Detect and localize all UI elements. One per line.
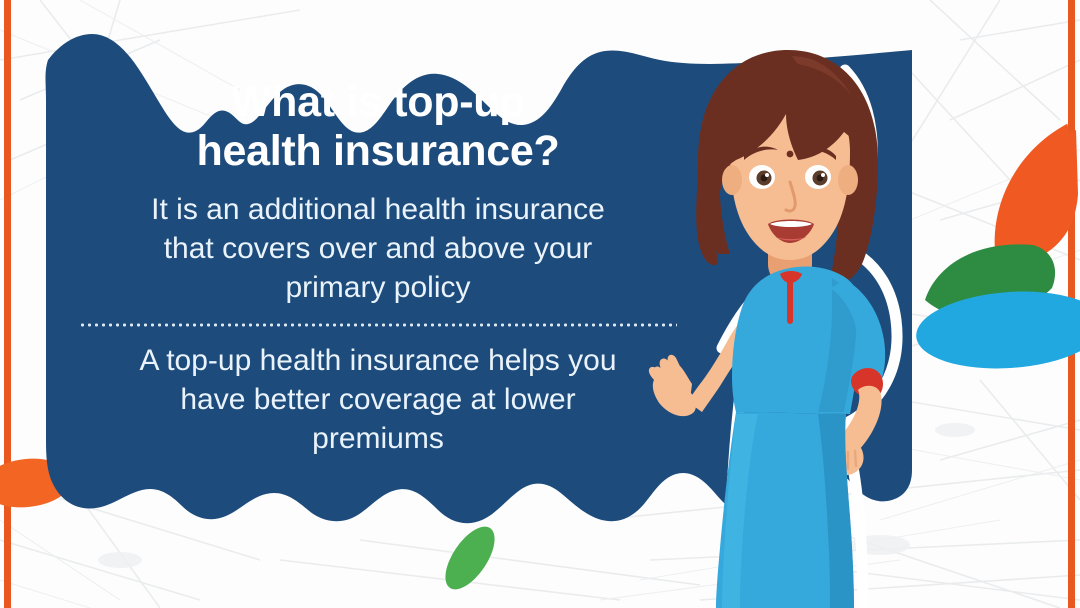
paragraph-benefit: A top-up health insurance helps you have… [48,341,708,458]
woman-illustration [640,40,970,608]
text-content-block: What is top-up health insurance? It is a… [48,78,708,458]
paragraph-2-line-3: premiums [48,419,708,458]
page-title: What is top-up health insurance? [48,78,708,176]
paragraph-1-line-3: primary policy [48,268,708,307]
headline-line-2: health insurance? [48,127,708,176]
paragraph-2-line-1: A top-up health insurance helps you [48,341,708,380]
eye-left [749,165,775,189]
hand-open [649,355,696,416]
eye-right [805,165,831,189]
paragraph-2-line-2: have better coverage at lower [48,380,708,419]
headline-line-1: What is top-up [48,78,708,127]
ear-right [838,165,858,195]
placket [787,280,793,324]
bindi [787,151,794,158]
paragraph-definition: It is an additional health insurance tha… [48,190,708,307]
dotted-divider [79,323,677,327]
ear-left [722,165,742,195]
infographic-canvas: What is top-up health insurance? It is a… [0,0,1080,608]
paragraph-1-line-2: that covers over and above your [48,229,708,268]
paragraph-1-line-1: It is an additional health insurance [48,190,708,229]
